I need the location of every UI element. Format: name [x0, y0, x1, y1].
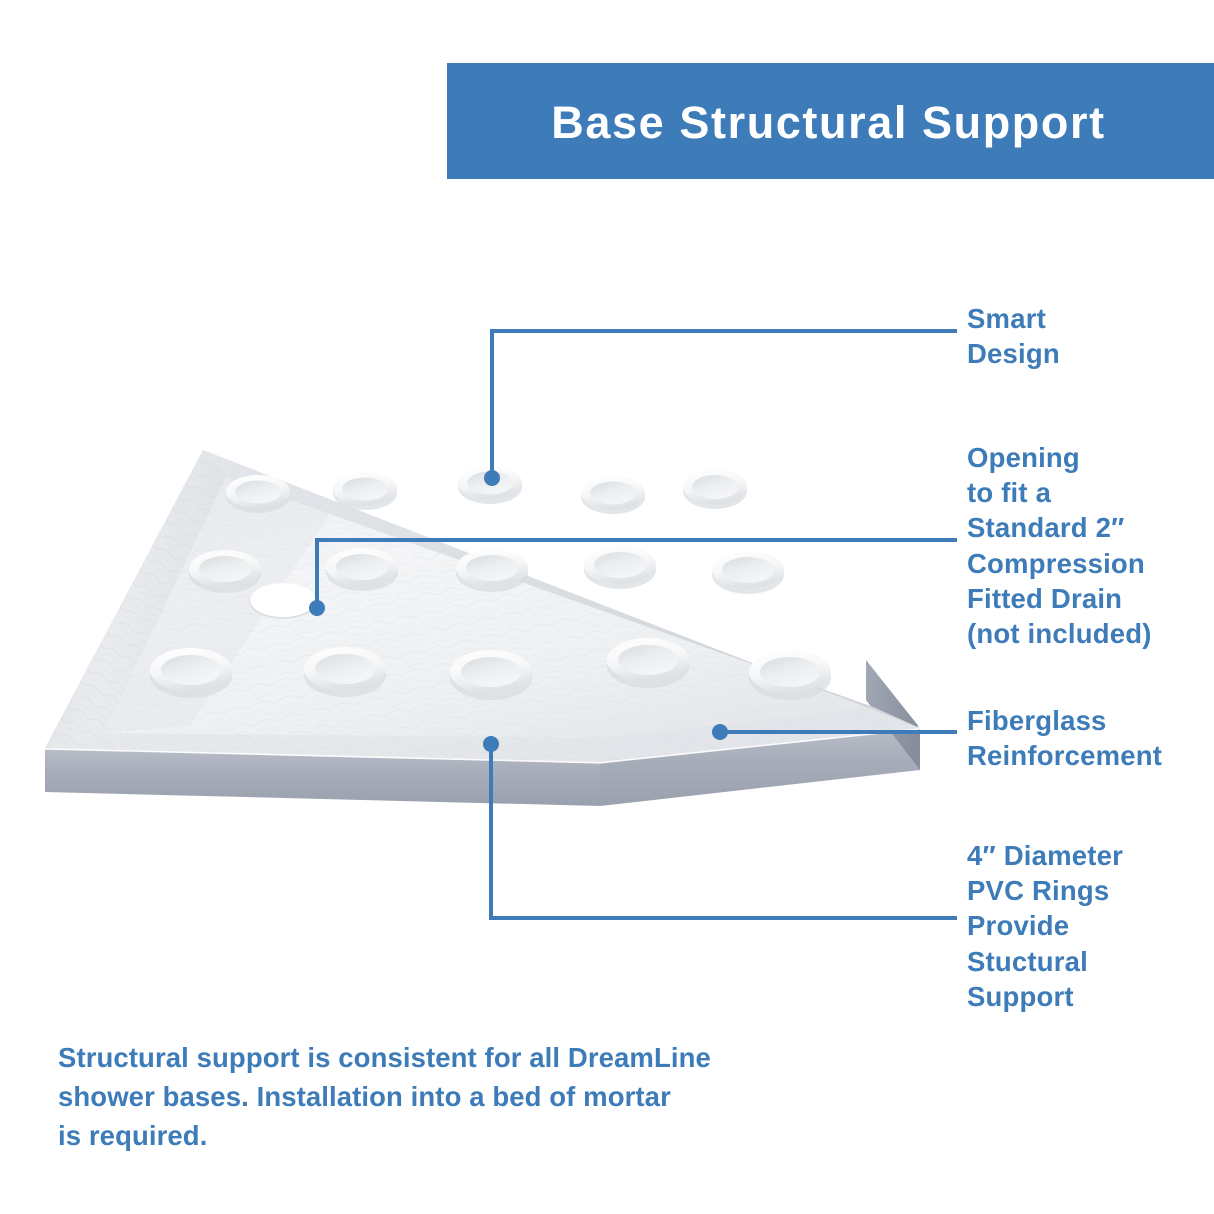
base-front-face-right — [600, 728, 920, 806]
base-edge-highlight — [45, 728, 920, 762]
base-rim-back-right — [203, 450, 920, 728]
base-rim-back-left — [45, 450, 226, 748]
base-rim-back-left-texture — [45, 450, 226, 748]
leader-dot-opening — [309, 600, 325, 616]
base-rim-front-right — [600, 707, 920, 762]
pvc-support-rings — [150, 466, 831, 700]
pvc-ring — [584, 546, 656, 589]
callout-label-pvc-rings: 4″ Diameter PVC Rings Provide Stuctural … — [967, 838, 1123, 1014]
page-title: Base Structural Support — [551, 100, 1105, 145]
base-front-face — [45, 748, 600, 806]
pvc-ring — [450, 650, 532, 700]
header-banner: Base Structural Support — [447, 63, 1214, 179]
base-right-face — [866, 660, 920, 770]
pvc-ring — [458, 466, 522, 504]
base-inner-floor-texture — [104, 477, 873, 738]
pvc-ring — [226, 475, 290, 513]
pvc-ring — [712, 551, 784, 594]
leader-line-opening — [317, 540, 955, 608]
pvc-ring — [683, 469, 747, 509]
leader-dot-fiberglass — [712, 724, 728, 740]
leader-lines — [309, 331, 955, 918]
callout-label-fiberglass-reinforcement: Fiberglass Reinforcement — [967, 703, 1162, 773]
base-top-deck-texture — [45, 450, 920, 762]
callout-label-opening-drain: Opening to fit a Standard 2″ Compression… — [967, 440, 1152, 651]
pvc-ring — [749, 650, 831, 700]
pvc-ring — [150, 648, 232, 698]
pvc-ring — [189, 550, 261, 593]
pvc-ring — [326, 548, 398, 591]
pvc-ring — [456, 549, 528, 592]
leader-line-pvc-rings — [491, 744, 955, 918]
callout-label-smart-design: Smart Design — [967, 301, 1060, 371]
leader-dot-pvc-rings — [483, 736, 499, 752]
pvc-ring — [333, 472, 397, 510]
pvc-ring — [607, 638, 689, 688]
drain-opening — [249, 583, 317, 619]
base-top-deck — [45, 450, 920, 762]
pvc-ring — [304, 647, 386, 697]
base-inner-floor — [104, 477, 873, 738]
leader-line-smart-design — [492, 331, 955, 478]
base-rim-front — [45, 733, 601, 762]
base-floor-shading — [104, 477, 330, 733]
shower-base-body — [45, 450, 920, 806]
product-infographic: Base Structural Support Smart Design Ope… — [0, 0, 1214, 1214]
pvc-ring — [581, 476, 645, 514]
bottom-caption: Structural support is consistent for all… — [58, 1038, 818, 1155]
leader-dot-smart-design — [484, 470, 500, 486]
